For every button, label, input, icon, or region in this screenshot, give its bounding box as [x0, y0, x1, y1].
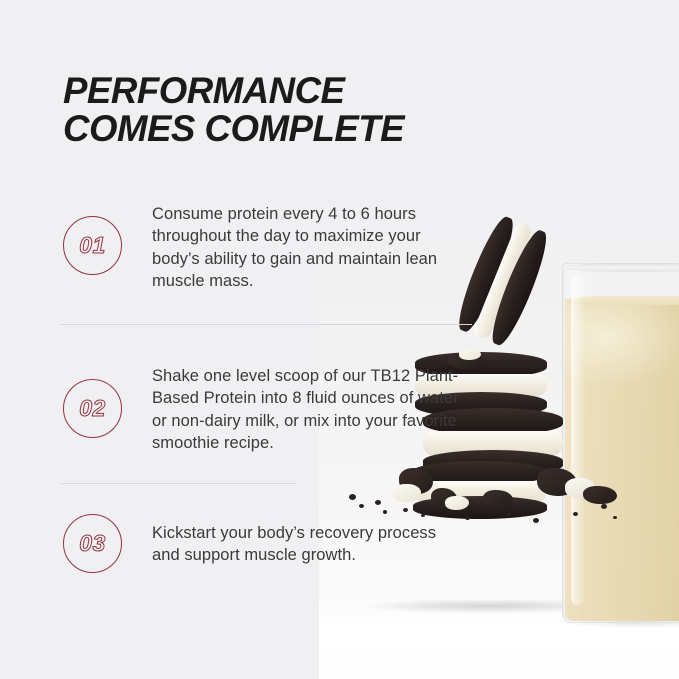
page-title: PERFORMANCE COMES COMPLETE	[63, 72, 404, 148]
step-badge-03: 03	[63, 514, 122, 573]
cookie-crumb	[383, 510, 387, 514]
cookie-chunk	[583, 486, 617, 504]
step-description: Kickstart your body’s recovery process a…	[152, 522, 462, 567]
step-number-label: 02	[79, 395, 106, 422]
promo-panel: PERFORMANCE COMES COMPLETE 01 Consume pr…	[0, 0, 679, 679]
cookie-crumb	[359, 504, 364, 508]
step-description: Shake one level scoop of our TB12 Plant-…	[152, 365, 462, 454]
cookie-crumb	[573, 512, 578, 516]
step-badge-02: 02	[63, 379, 122, 438]
step-description: Consume protein every 4 to 6 hours throu…	[152, 203, 462, 292]
step-number-label: 03	[79, 530, 106, 557]
step-number-label: 01	[79, 232, 106, 259]
section-divider-2	[61, 483, 297, 484]
section-divider-1	[60, 324, 472, 325]
cookie-crumb	[421, 514, 425, 517]
cookie-crumb	[375, 500, 381, 505]
leaning-cookie	[452, 213, 553, 349]
cookie-crumb	[533, 518, 539, 523]
step-badge-01: 01	[63, 216, 122, 275]
cookie-crumb	[613, 516, 617, 519]
cookie-crumb	[403, 508, 408, 512]
cookie-crumb	[601, 504, 607, 509]
cookie-crumb	[465, 516, 470, 520]
cookie-crumb	[507, 512, 511, 516]
cookie-chunk	[483, 490, 513, 508]
cookie-crumb	[349, 494, 356, 500]
